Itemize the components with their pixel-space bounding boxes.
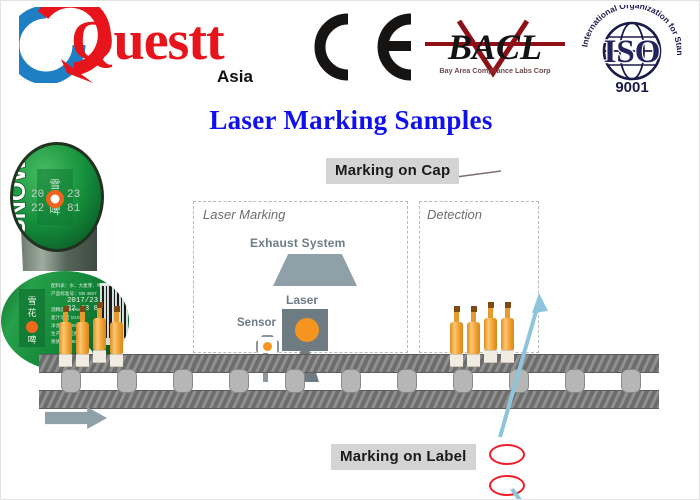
conveyor-roller: [621, 369, 641, 393]
iso-9001-logo: International Organization for Standardi…: [573, 5, 691, 97]
callout-marking-on-cap: Marking on Cap: [326, 158, 459, 184]
bottle-label: [467, 354, 480, 367]
bottle: [76, 306, 89, 354]
svg-text:20: 20: [31, 189, 44, 201]
bacl-logo: BACL Bay Area Compliance Labs Corp: [421, 15, 569, 81]
questt-wordmark: Questt: [71, 13, 224, 69]
bottle-label: [59, 354, 72, 367]
questt-asia-sub: Asia: [217, 67, 253, 87]
bottle-body: [501, 318, 514, 350]
bottle-label: [93, 350, 106, 363]
sensor-label: Sensor: [237, 317, 276, 329]
conveyor-roller: [565, 369, 585, 393]
bottle-label: [501, 350, 514, 363]
svg-text:产品标准号：GB 4927: 产品标准号：GB 4927: [51, 290, 97, 297]
bottle-body: [484, 318, 497, 350]
svg-text:9001: 9001: [615, 79, 648, 96]
svg-text:BACL: BACL: [447, 27, 542, 67]
svg-text:雪: 雪: [50, 178, 61, 191]
conveyor-roller: [341, 369, 361, 393]
bottle: [450, 306, 463, 354]
bottle-body: [110, 322, 123, 354]
bottle-body: [450, 322, 463, 354]
bottle-body: [76, 322, 89, 354]
svg-text:雪: 雪: [27, 296, 36, 307]
svg-text:Bay Area Compliance Labs Corp: Bay Area Compliance Labs Corp: [439, 66, 551, 75]
laser-marking-samples-page: Questt Asia BACL Bay Area Compliance Lab…: [0, 0, 700, 500]
bottle-body: [467, 322, 480, 354]
bottle-body: [93, 318, 106, 350]
exhaust-system-label: Exhaust System: [250, 236, 346, 250]
laser-beam-dot: [295, 318, 319, 342]
conveyor-roller: [61, 369, 81, 393]
bottle-label: [484, 350, 497, 363]
svg-text:22: 22: [31, 203, 44, 215]
callout-marking-on-label: Marking on Label: [331, 444, 476, 470]
conveyor-roller: [229, 369, 249, 393]
bottle: [501, 302, 514, 354]
bottle-label: [76, 354, 89, 367]
svg-text:ISO: ISO: [604, 34, 661, 70]
conveyor-roller: [453, 369, 473, 393]
page-title: Laser Marking Samples: [1, 105, 700, 136]
svg-text:啤: 啤: [27, 334, 36, 346]
zone-label-detection: Detection: [427, 207, 482, 222]
bottle: [484, 302, 497, 354]
conveyor-roller: [173, 369, 193, 393]
conveyor-roller: [285, 369, 305, 393]
questt-asia-logo: Questt Asia: [19, 7, 279, 89]
logo-bar: Questt Asia BACL Bay Area Compliance Lab…: [1, 1, 700, 99]
production-line-diagram: Laser Marking Detection Exhaust System L…: [1, 141, 700, 500]
zone-label-laser-marking: Laser Marking: [203, 207, 285, 222]
svg-text:花: 花: [27, 307, 36, 319]
sensor-indicator-dot: [263, 342, 272, 351]
bottle-label: [450, 354, 463, 367]
bottle: [59, 306, 72, 354]
laser-head: [282, 309, 328, 351]
bottle: [110, 306, 123, 354]
conveyor-roller: [397, 369, 417, 393]
bottle-body: [59, 322, 72, 354]
highlight-ellipse-cap: [489, 444, 525, 465]
bottle: [93, 302, 106, 354]
highlight-ellipse-label: [489, 475, 525, 496]
conveyor-roller: [117, 369, 137, 393]
ce-mark-icon: [301, 9, 421, 85]
bottle: [467, 306, 480, 354]
laser-label: Laser: [286, 293, 318, 307]
direction-arrow: [45, 407, 107, 429]
bottle-label: [110, 354, 123, 367]
conveyor-roller: [509, 369, 529, 393]
svg-text:23: 23: [67, 189, 80, 201]
cap-photo: SNOW 雪 花 啤 20 23 22 81: [1, 141, 111, 271]
svg-text:81: 81: [67, 203, 81, 215]
